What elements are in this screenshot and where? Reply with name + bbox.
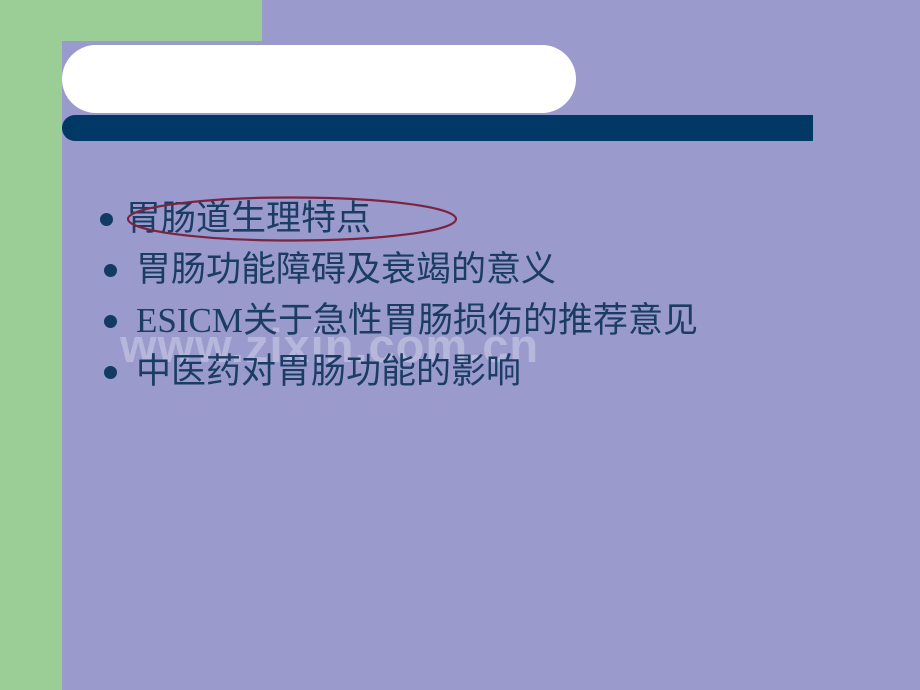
bullet-dot-icon bbox=[104, 315, 117, 328]
bullet-item-label: 中医药对胃肠功能的影响 bbox=[136, 349, 890, 395]
title-placeholder-box[interactable] bbox=[62, 45, 576, 113]
list-item[interactable]: 胃肠功能障碍及衰竭的意义 bbox=[100, 247, 890, 298]
list-item[interactable]: 胃肠道生理特点 bbox=[100, 196, 890, 247]
list-item[interactable]: ESICM关于急性胃肠损伤的推荐意见 bbox=[100, 298, 890, 349]
bullet-item-label: 胃肠功能障碍及衰竭的意义 bbox=[136, 247, 890, 293]
decor-green-top-band bbox=[0, 0, 262, 41]
slide-title bbox=[62, 45, 576, 77]
decor-green-left-stripe bbox=[0, 0, 62, 690]
bullet-dot-icon bbox=[104, 264, 117, 277]
list-item[interactable]: 中医药对胃肠功能的影响 bbox=[100, 349, 890, 400]
slide-canvas: www.zixin.com.cn 胃肠道生理特点 胃肠功能障碍及衰竭的意义 ES… bbox=[0, 0, 920, 690]
bullet-item-label: 胃肠道生理特点 bbox=[126, 196, 890, 242]
bullet-dot-icon bbox=[104, 366, 117, 379]
bullet-dot-icon bbox=[100, 213, 113, 226]
bullet-item-label: ESICM关于急性胃肠损伤的推荐意见 bbox=[136, 298, 890, 344]
bullet-list: 胃肠道生理特点 胃肠功能障碍及衰竭的意义 ESICM关于急性胃肠损伤的推荐意见 … bbox=[100, 196, 890, 400]
decor-navy-accent-bar bbox=[62, 115, 813, 141]
